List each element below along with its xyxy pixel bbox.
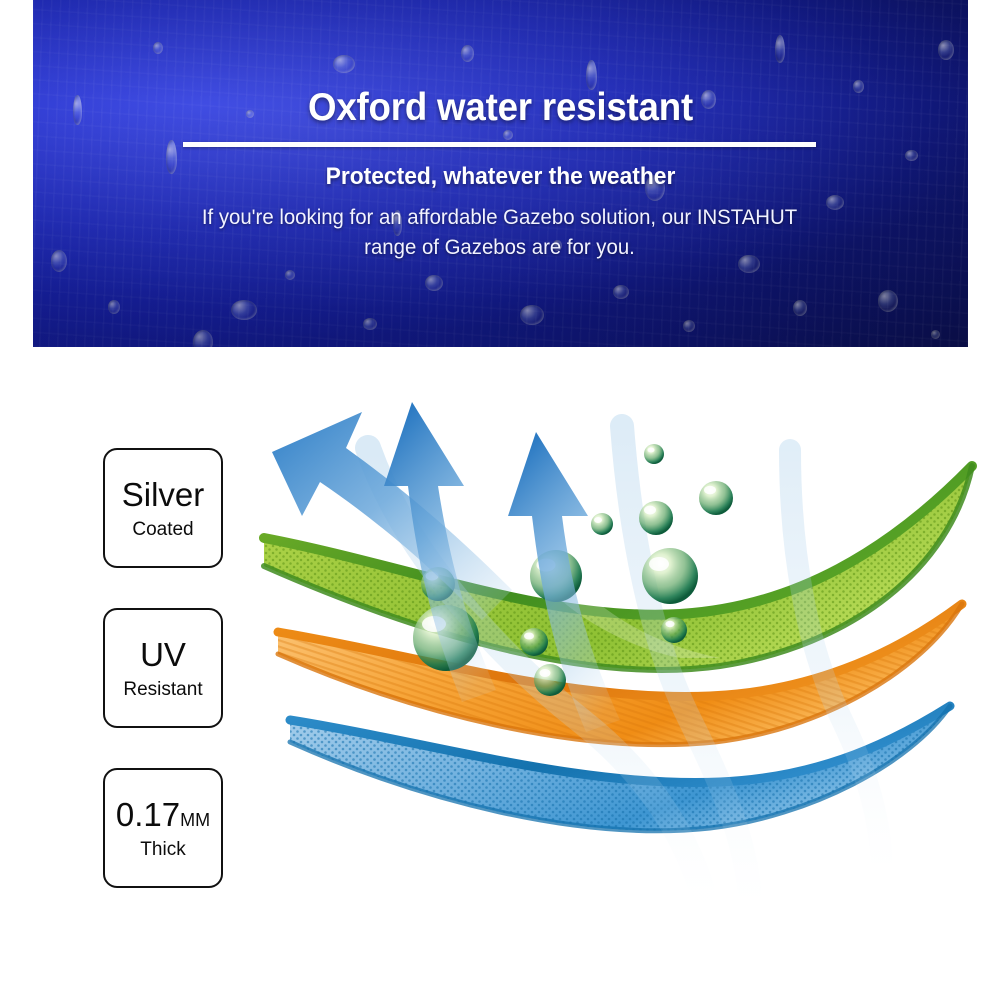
- banner-subtitle: Protected, whatever the weather: [56, 163, 944, 191]
- fabric-layers-illustration: [250, 390, 980, 950]
- banner-body-text: If you're looking for an affordable Gaze…: [192, 203, 806, 263]
- page-root: Oxford water resistant Protected, whatev…: [0, 0, 1000, 1000]
- feature-box-title: Silver: [122, 478, 205, 511]
- feature-box-thickness: 0.17MM Thick: [103, 768, 223, 888]
- banner-title: Oxford water resistant: [61, 86, 940, 130]
- banner-divider: [183, 142, 816, 147]
- feature-box-title: 0.17MM: [116, 798, 210, 831]
- feature-box-silver-coated: Silver Coated: [103, 448, 223, 568]
- feature-box-subtitle: Thick: [140, 840, 185, 859]
- feature-unit: MM: [180, 810, 210, 830]
- feature-box-title: UV: [140, 638, 186, 671]
- banner-text-block: Oxford water resistant Protected, whatev…: [33, 0, 968, 347]
- feature-box-subtitle: Resistant: [123, 680, 202, 699]
- feature-box-uv-resistant: UV Resistant: [103, 608, 223, 728]
- hero-banner: Oxford water resistant Protected, whatev…: [33, 0, 968, 347]
- feature-box-subtitle: Coated: [132, 520, 193, 539]
